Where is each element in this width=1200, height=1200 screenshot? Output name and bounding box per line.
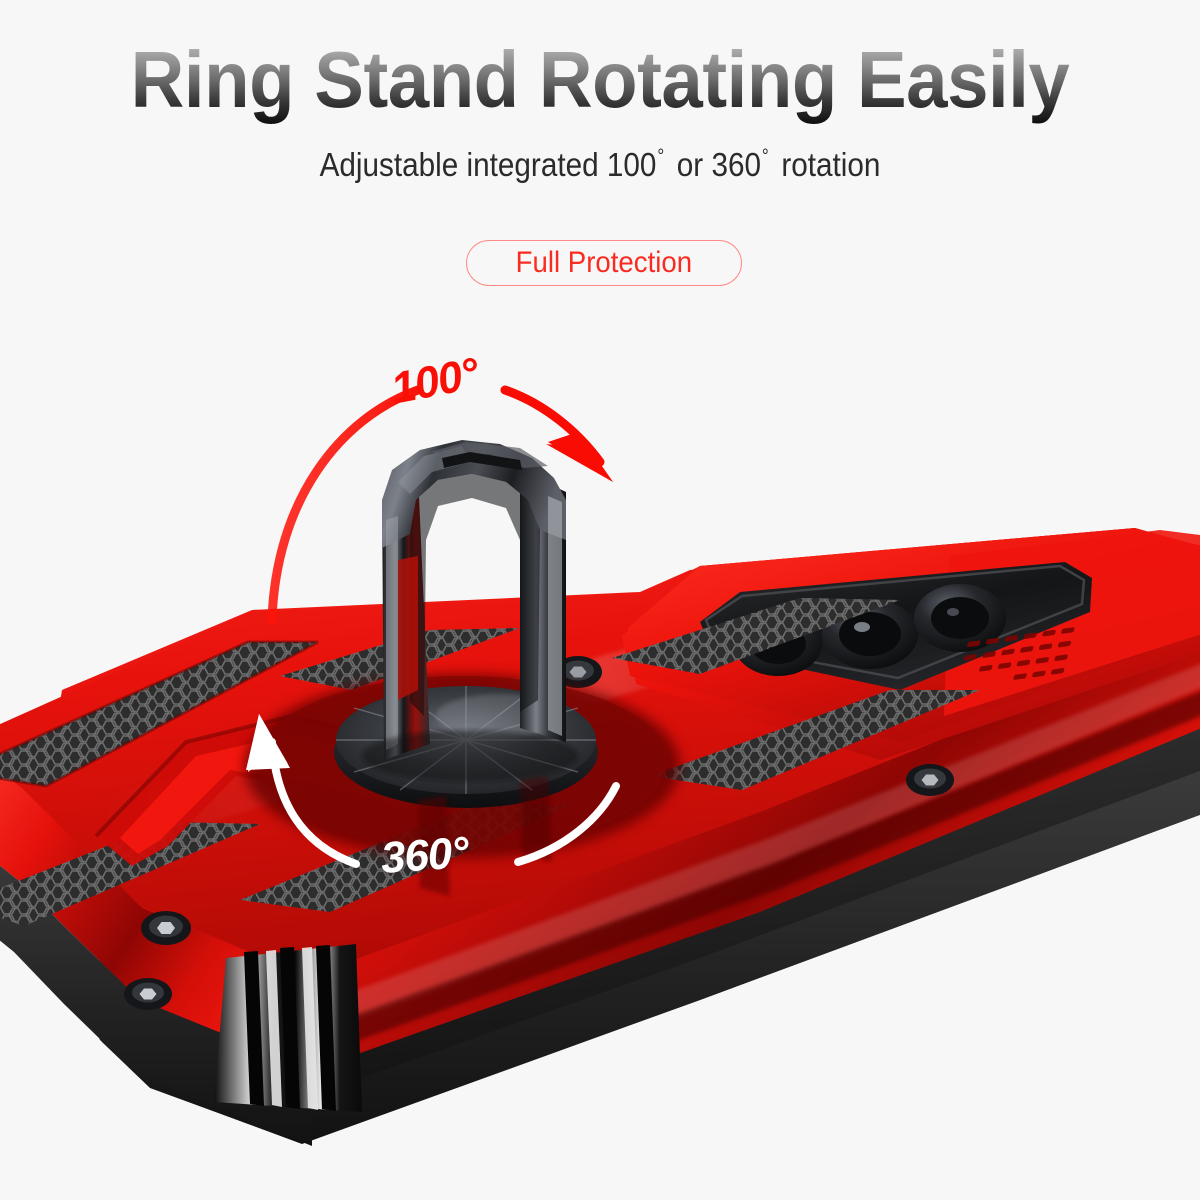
hex-screw <box>124 978 172 1010</box>
side-grip-ribs <box>214 944 362 1112</box>
angle-label-360: 360° <box>379 828 469 884</box>
ring-leg-left-highlight <box>386 516 398 750</box>
hex-screw <box>141 911 191 945</box>
product-feature-banner: Ring Stand Rotating Easily Adjustable in… <box>0 0 1200 1200</box>
ring-leg-right-highlight <box>548 496 562 736</box>
grip-rib-lines <box>244 945 336 1111</box>
camera-lens-3-glint <box>947 608 959 616</box>
ring-red-reflection <box>398 556 418 700</box>
ring-base-shadow <box>362 730 578 782</box>
product-illustration <box>0 0 1200 1200</box>
phone-case-body <box>0 440 1200 1146</box>
camera-lens-3-inner <box>931 597 989 639</box>
hex-screw <box>906 764 954 796</box>
red-arrow-head-fill <box>548 432 613 482</box>
camera-lens-2-glint <box>854 622 870 632</box>
